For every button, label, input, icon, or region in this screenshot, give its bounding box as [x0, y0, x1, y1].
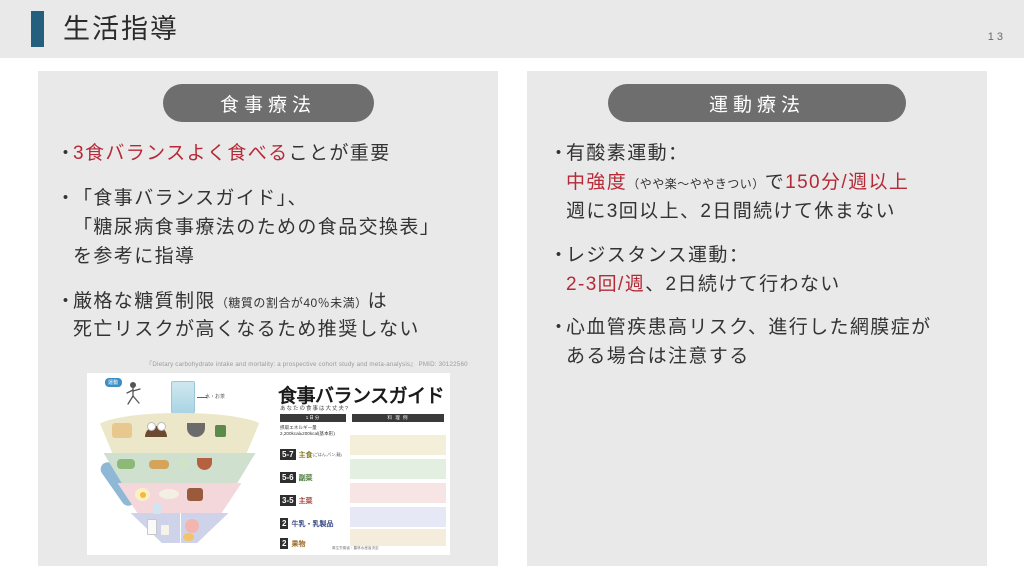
serving-count: 2 [280, 518, 288, 529]
bullet-line: ある場合は注意する [566, 343, 977, 372]
food-yolk-icon [140, 492, 146, 498]
duration-highlight: 150分/週以上 [785, 172, 909, 193]
example-row-main [350, 483, 446, 504]
bullet-line: 厳格な糖質制限（糖質の割合が40％未満）は [73, 288, 484, 317]
serving-sub: (ごはん,パン,麺) [313, 452, 342, 458]
list-item: ・ 厳格な糖質制限（糖質の割合が40％未満）は 死亡リスクが高くなるため推奨しな… [56, 288, 484, 346]
food-guide-cone: 運動 水・お茶 [87, 373, 272, 555]
food-balance-guide-figure: 運動 水・お茶 [87, 373, 450, 555]
serving-label: 果物 [291, 539, 305, 549]
example-row-staple [350, 435, 446, 456]
serving-count: 5-6 [280, 472, 296, 483]
panel-exercise-therapy: 運動療法 ・ 有酸素運動： 中強度（やや楽〜ややきつい）で150分/週以上 週に… [527, 71, 987, 566]
serving-row-staple: 5-7 主食 (ごはん,パン,麺) [280, 447, 344, 462]
serving-label: 副菜 [299, 473, 313, 483]
food-bowl-icon [147, 422, 156, 431]
bullet-text: 3食バランスよく食べることが重要 [73, 140, 484, 169]
food-bowl-icon [157, 422, 166, 431]
bullet-line: 「糖尿病食事療法のための食品交換表」 [73, 214, 484, 243]
bullet-text: 有酸素運動： 中強度（やや楽〜ややきつい）で150分/週以上 週に3回以上、2日… [566, 140, 977, 227]
bullet-tail: は [368, 291, 388, 312]
food-guide-table: 食事バランスガイド あなたの食事は大丈夫? 1日分 料 理 例 摂取エネルギー量… [272, 373, 450, 555]
exercise-bullet-list: ・ 有酸素運動： 中強度（やや楽〜ややきつい）で150分/週以上 週に3回以上、… [527, 122, 987, 372]
figure-subtitle: あなたの食事は大丈夫? [280, 404, 349, 412]
food-milk-carton-icon [147, 519, 157, 535]
bullet-line: 2-3回/週、2日続けて行わない [566, 271, 977, 300]
slide-header: 生活指導 [0, 0, 1024, 58]
serving-count: 2 [280, 538, 288, 549]
table-header-examples: 料 理 例 [352, 414, 444, 422]
bullet-heading-line: 有酸素運動： [566, 140, 977, 169]
serving-label: 主食 [299, 450, 313, 460]
bullet-line: 中強度（やや楽〜ややきつい）で150分/週以上 [566, 169, 977, 198]
page-number: 13 [988, 31, 1006, 43]
energy-note: 摂取エネルギー量2,200kcal±200kcal(基本形) [280, 425, 335, 437]
example-row-side [350, 459, 446, 480]
food-vegetable-icon [149, 460, 169, 469]
bullet-heading-line: レジスタンス運動： [566, 242, 977, 271]
serving-count: 5-7 [280, 449, 296, 460]
bullet-dot: ・ [56, 288, 73, 346]
slide: 生活指導 13 食事療法 ・ 3食バランスよく食べることが重要 ・ 「食事バラン… [0, 0, 1024, 576]
bullet-segment-highlight: 3食バランスよく食べる [73, 143, 289, 164]
panel-heading-diet: 食事療法 [163, 84, 374, 122]
bullet-line: 週に3回以上、2日間続けて休まない [566, 198, 977, 227]
serving-row-main: 3-5 主菜 [280, 493, 344, 508]
page-title: 生活指導 [63, 16, 179, 43]
frequency-highlight: 2-3回/週 [566, 274, 645, 295]
food-tofu-icon [153, 504, 161, 514]
serving-row-side: 5-6 副菜 [280, 470, 344, 485]
bullet-text: 「食事バランスガイド」、 「糖尿病食事療法のための食品交換表」 を参考に指導 [73, 185, 484, 272]
serving-row-dairy: 2 牛乳・乳製品 [280, 516, 344, 531]
food-apple-icon [185, 519, 199, 533]
panel-heading-exercise: 運動療法 [608, 84, 906, 122]
list-item: ・ レジスタンス運動： 2-3回/週、2日続けて行わない [549, 242, 977, 300]
list-item: ・ 3食バランスよく食べることが重要 [56, 140, 484, 169]
bullet-main: 厳格な糖質制限 [73, 291, 216, 312]
food-salad-icon [117, 459, 135, 469]
food-orange-icon [183, 533, 194, 541]
connector-text: で [765, 172, 785, 193]
intensity-parenthetical: （やや楽〜ややきつい） [627, 177, 765, 191]
water-glass-icon [171, 381, 195, 415]
bullet-line: 「食事バランスガイド」、 [73, 185, 484, 214]
food-fish-icon [159, 489, 179, 499]
runner-icon [111, 379, 173, 409]
citation-reference: 『Dietary carbohydrate intake and mortali… [146, 359, 484, 368]
food-cheese-icon [161, 525, 169, 535]
example-row-fruit [350, 529, 446, 547]
bullet-text: 心血管疾患高リスク、進行した網膜症が ある場合は注意する [566, 314, 977, 372]
cone-layer-divider [180, 513, 181, 543]
bullet-line: 死亡リスクが高くなるため推奨しない [73, 316, 484, 345]
list-item: ・ 「食事バランスガイド」、 「糖尿病食事療法のための食品交換表」 を参考に指導 [56, 185, 484, 272]
serving-count: 3-5 [280, 495, 296, 506]
diet-bullet-list: ・ 3食バランスよく食べることが重要 ・ 「食事バランスガイド」、 「糖尿病食事… [38, 122, 498, 368]
bullet-text: 厳格な糖質制限（糖質の割合が40％未満）は 死亡リスクが高くなるため推奨しない [73, 288, 484, 346]
bullet-text: レジスタンス運動： 2-3回/週、2日続けて行わない [566, 242, 977, 300]
water-label: 水・お茶 [205, 393, 225, 400]
panel-diet-therapy: 食事療法 ・ 3食バランスよく食べることが重要 ・ 「食事バランスガイド」、 「… [38, 71, 498, 566]
bullet-line: 心血管疾患高リスク、進行した網膜症が [566, 314, 977, 343]
food-onigiri-icon [215, 425, 226, 437]
serving-label: 主菜 [299, 496, 313, 506]
food-bread-icon [112, 423, 132, 438]
bullet-dot: ・ [549, 314, 566, 372]
list-item: ・ 有酸素運動： 中強度（やや楽〜ややきつい）で150分/週以上 週に3回以上、… [549, 140, 977, 227]
bullet-dot: ・ [549, 242, 566, 300]
example-row-dairy [350, 507, 446, 528]
bullet-line: を参考に指導 [73, 243, 484, 272]
food-small-dish-icon [179, 459, 190, 470]
bullet-dot: ・ [549, 140, 566, 227]
frequency-tail: 、2日続けて行わない [645, 274, 841, 295]
bullet-segment-normal: ことが重要 [289, 143, 391, 164]
table-header-daily: 1日分 [280, 414, 346, 422]
bullet-dot: ・ [56, 140, 73, 169]
intensity-highlight: 中強度 [566, 172, 627, 193]
bullet-dot: ・ [56, 185, 73, 272]
title-accent-bar [31, 11, 44, 47]
bullet-parenthetical: （糖質の割合が40％未満） [216, 296, 368, 310]
list-item: ・ 心血管疾患高リスク、進行した網膜症が ある場合は注意する [549, 314, 977, 372]
food-meat-icon [187, 488, 203, 501]
serving-label: 牛乳・乳製品 [291, 519, 333, 529]
figure-footer: 厚生労働省・農林水産省決定 [332, 546, 379, 551]
